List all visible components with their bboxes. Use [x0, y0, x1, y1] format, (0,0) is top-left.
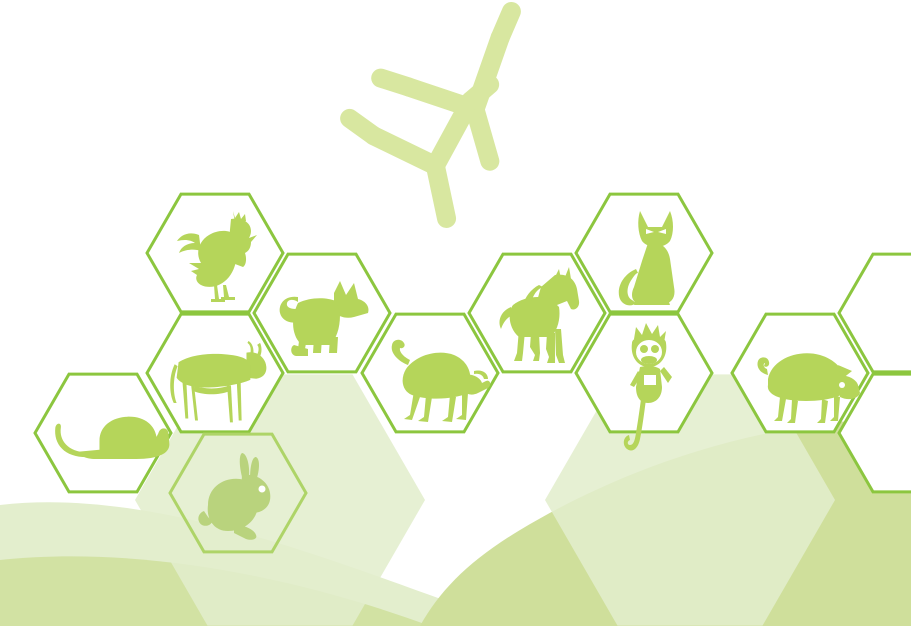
hexagon-tile-bull[interactable] — [362, 314, 498, 432]
hexagon-tile-horse[interactable] — [469, 254, 605, 372]
antibody-group — [349, 11, 550, 233]
hexagon-tile-chicken[interactable] — [147, 194, 283, 312]
hexagon-tile-dog[interactable] — [254, 254, 390, 372]
hexagon-tile-cat[interactable] — [576, 194, 712, 312]
banner-canvas: Chicken Dog Cow Bull Horse Cat Monkey Mo… — [0, 0, 911, 626]
illustration-scene — [0, 0, 911, 626]
